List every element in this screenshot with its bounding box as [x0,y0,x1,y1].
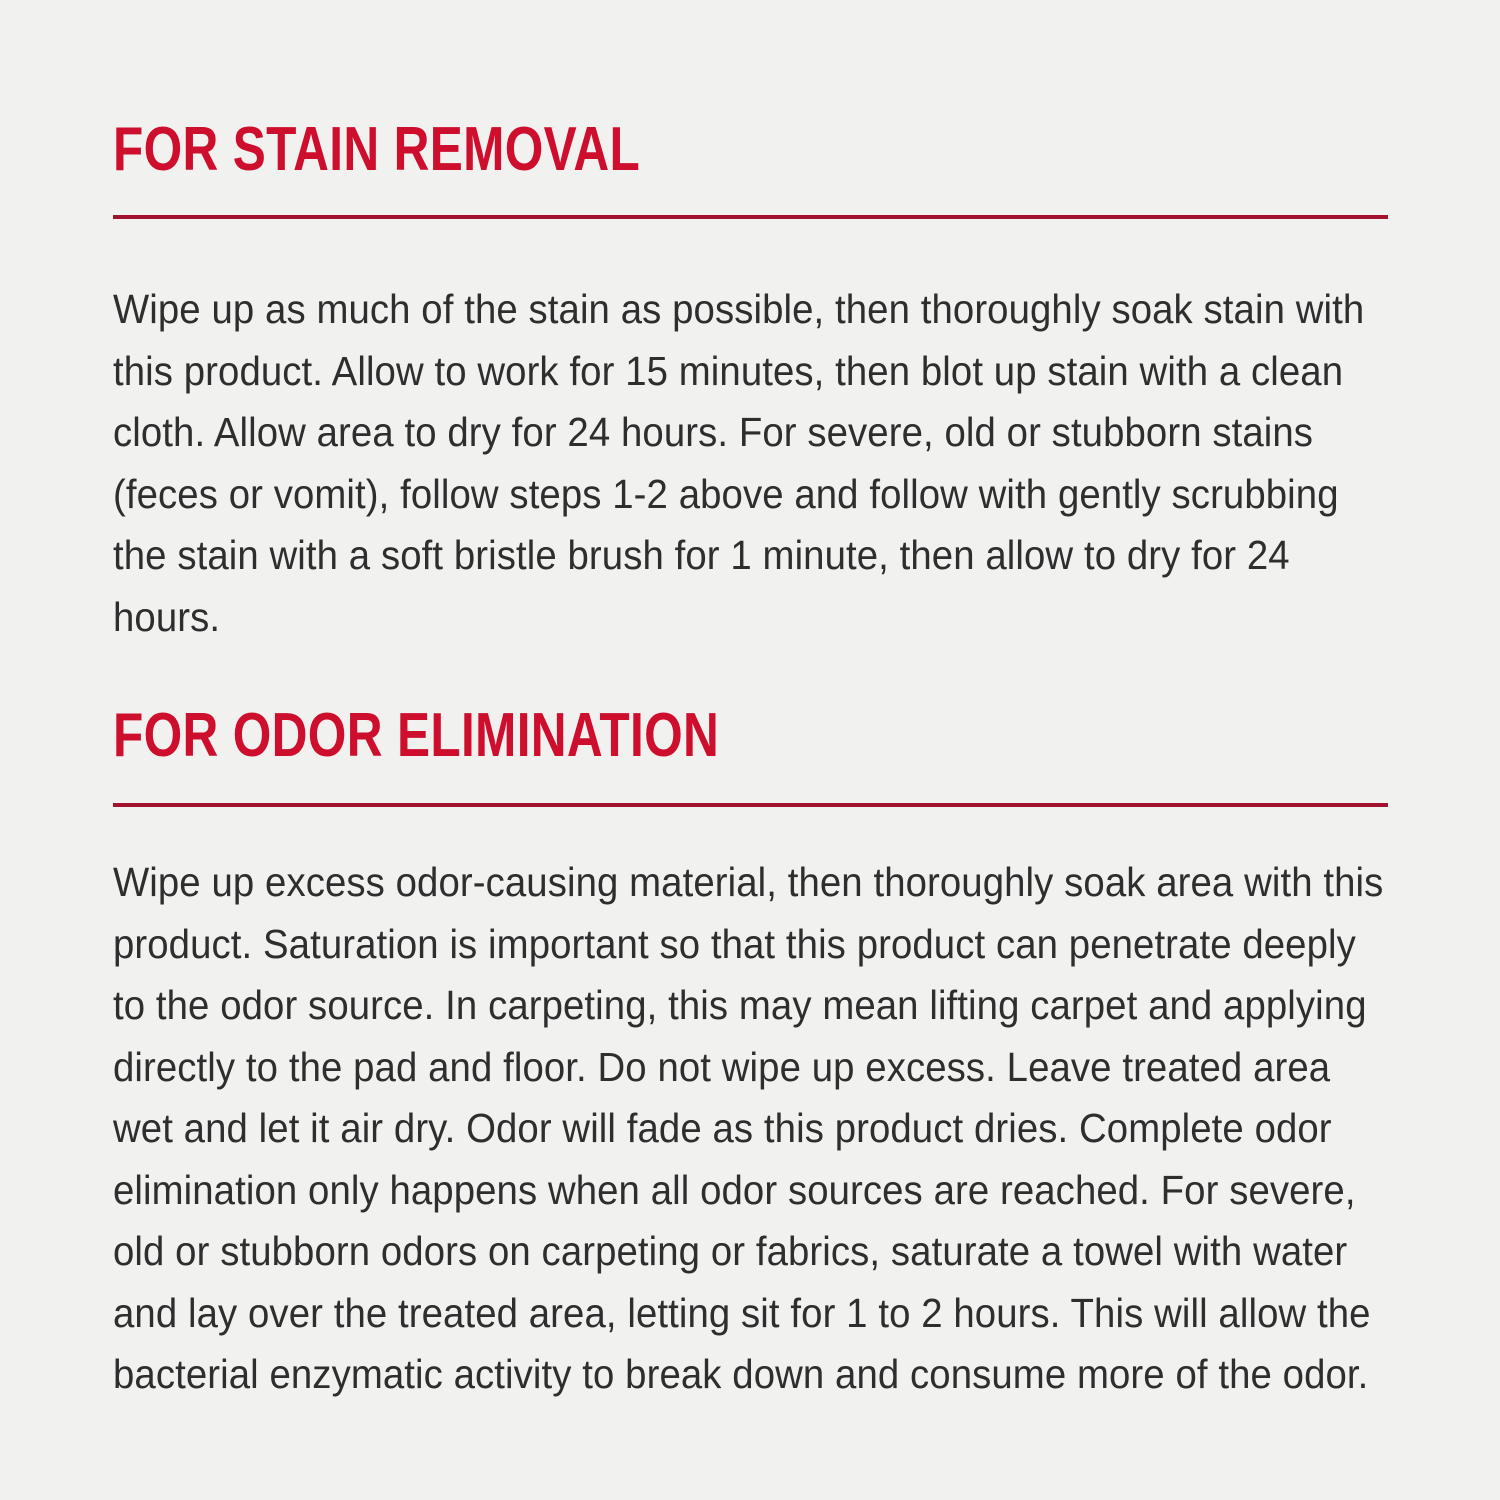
section-body-stain-removal: Wipe up as much of the stain as possible… [113,279,1389,648]
section-divider-stain-removal [113,215,1388,219]
section-heading-odor-elimination: FOR ODOR ELIMINATION [113,704,719,767]
section-heading-stain-removal: FOR STAIN REMOVAL [113,118,640,181]
section-body-odor-elimination: Wipe up excess odor-causing material, th… [113,852,1389,1406]
instructions-page: FOR STAIN REMOVAL Wipe up as much of the… [0,0,1500,1500]
section-divider-odor-elimination [113,803,1388,807]
